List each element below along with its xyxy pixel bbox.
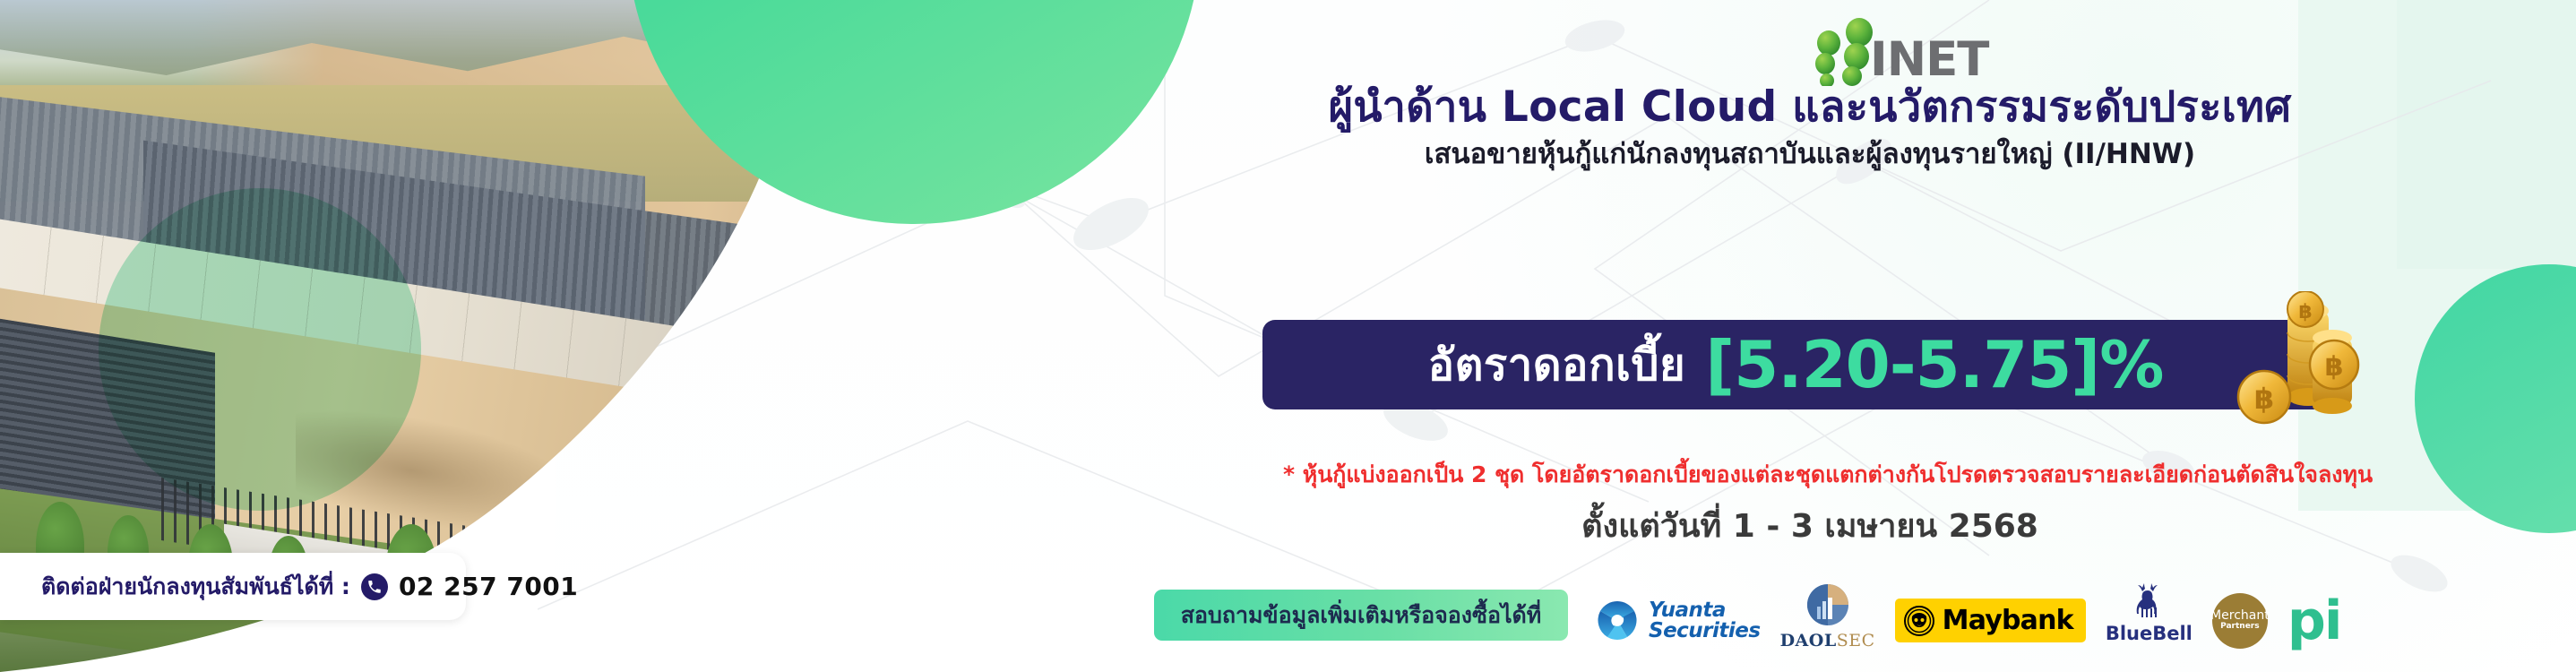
- partner-logo-pi[interactable]: pi: [2287, 582, 2341, 660]
- deer-icon: [2129, 582, 2168, 621]
- svg-text:฿: ฿: [2254, 382, 2274, 416]
- partner-logo-yuanta[interactable]: Yuanta Securities: [1595, 582, 1761, 660]
- offer-date-range: ตั้งแต่วันที่ 1 - 3 เมษายน 2568: [1120, 500, 2500, 551]
- phone-icon: [361, 573, 388, 600]
- daol-line1: DAOL: [1780, 631, 1837, 650]
- promotional-banner: INET ผู้นำด้าน Local Cloud และนวัตกรรมระ…: [0, 0, 2576, 672]
- daol-line2: SEC: [1837, 631, 1875, 650]
- pi-logo-icon: pi: [2287, 599, 2341, 642]
- green-circle-decoration-left: [99, 188, 421, 511]
- svg-text:฿: ฿: [2325, 351, 2344, 383]
- yuanta-line1: Yuanta: [1649, 600, 1761, 621]
- interest-rate-value: [5.20-5.75]%: [1705, 332, 2163, 397]
- contact-phone-number[interactable]: 02 257 7001: [399, 572, 578, 601]
- yuanta-line2: Securities: [1649, 621, 1761, 642]
- inquiry-cta-button[interactable]: สอบถามข้อมูลเพิ่มเติมหรือจองซื้อได้ที่: [1154, 590, 1568, 641]
- daol-circle-icon: [1805, 582, 1851, 628]
- partner-logo-bluebell[interactable]: BlueBell: [2106, 582, 2193, 660]
- partner-logos-row: Yuanta Securities DAOLSEC: [1595, 578, 2563, 663]
- partner-logo-daol[interactable]: DAOLSEC: [1780, 582, 1875, 660]
- contact-label: ติดต่อฝ่ายนักลงทุนสัมพันธ์ได้ที่ :: [41, 569, 350, 605]
- bluebell-text: BlueBell: [2106, 623, 2193, 644]
- daol-text: DAOLSEC: [1780, 631, 1875, 650]
- investor-relations-contact-card[interactable]: ติดต่อฝ่ายนักลงทุนสัมพันธ์ได้ที่ : 02 25…: [0, 553, 466, 620]
- maybank-text: Maybank: [1943, 605, 2073, 636]
- disclaimer-text: * หุ้นกู้แบ่งออกเป็น 2 ชุด โดยอัตราดอกเบ…: [1111, 457, 2545, 493]
- interest-rate-label: อัตราดอกเบี้ย: [1428, 330, 1686, 400]
- inet-logo[interactable]: INET: [1770, 16, 2065, 86]
- page-subtitle: เสนอขายหุ้นกู้แก่นักลงทุนสถาบันและผู้ลงท…: [1120, 136, 2500, 172]
- partner-logo-maybank[interactable]: Maybank: [1895, 582, 2086, 660]
- merchant-circle-icon: Merchant Partners: [2212, 593, 2268, 649]
- maybank-tiger-icon: [1904, 606, 1934, 636]
- merchant-line1: Merchant: [2210, 609, 2270, 623]
- page-title: ผู้นำด้าน Local Cloud และนวัตกรรมระดับปร…: [1120, 82, 2500, 132]
- interest-rate-banner: อัตราดอกเบี้ย [5.20-5.75]%: [1262, 320, 2329, 409]
- merchant-line2: Partners: [2220, 623, 2259, 631]
- gold-coins-icon: ฿ ฿ ฿: [2228, 291, 2363, 438]
- svg-text:฿: ฿: [2298, 301, 2312, 323]
- yuanta-star-icon: [1595, 599, 1640, 643]
- inet-logo-text: INET: [1870, 36, 1988, 83]
- partner-logo-merchant-partners[interactable]: Merchant Partners: [2212, 582, 2268, 660]
